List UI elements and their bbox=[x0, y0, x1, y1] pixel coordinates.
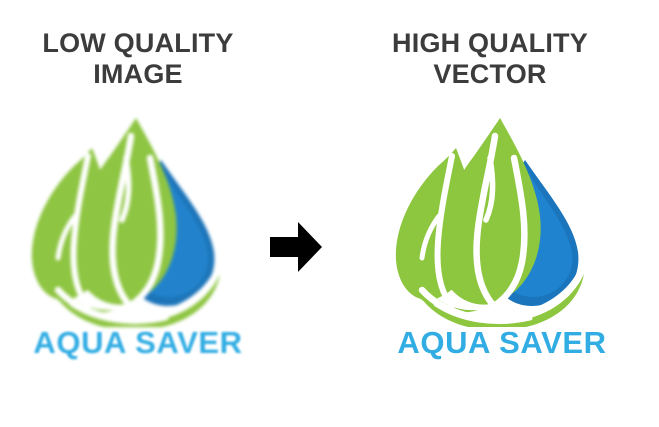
high-quality-logo: AQUA SAVER bbox=[382, 112, 622, 377]
comparison-canvas: LOW QUALITY IMAGE HIGH QUALITY VECTOR bbox=[0, 0, 659, 427]
low-quality-logo: AQUA SAVER bbox=[18, 112, 258, 377]
aqua-saver-droplet-icon bbox=[18, 112, 258, 327]
logo-wordmark: AQUA SAVER bbox=[382, 325, 622, 361]
right-column-heading: HIGH QUALITY VECTOR bbox=[340, 28, 640, 90]
logo-wordmark: AQUA SAVER bbox=[18, 325, 258, 361]
aqua-saver-droplet-icon bbox=[382, 112, 622, 327]
arrow-right-icon bbox=[270, 220, 322, 274]
left-column-heading: LOW QUALITY IMAGE bbox=[0, 28, 288, 90]
